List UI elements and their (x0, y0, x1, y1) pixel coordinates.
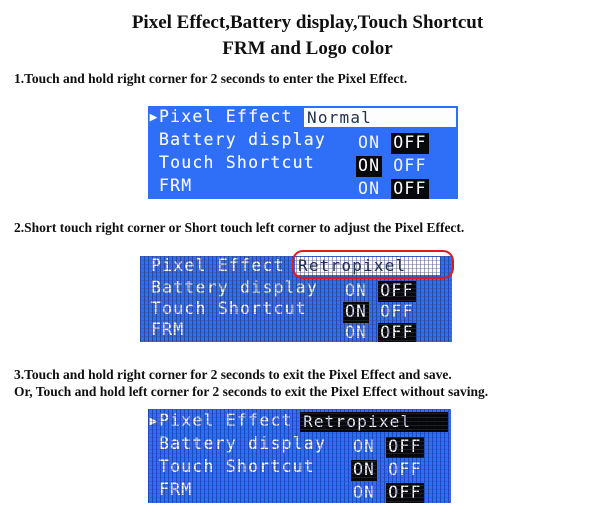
lcd-row-label: Pixel Effect (159, 109, 293, 126)
lcd-row-label: Touch Shortcut (151, 301, 307, 318)
toggle-option-off[interactable]: OFF (386, 460, 423, 481)
step-1-instruction: 1.Touch and hold right corner for 2 seco… (14, 71, 407, 87)
frm-toggle[interactable]: ON OFF (351, 483, 424, 503)
lcd-panel-retropixel-saved[interactable]: ▶ Pixel Effect Retropixel ▶ Battery disp… (148, 409, 451, 503)
page-title-line-2: FRM and Logo color (0, 38, 615, 60)
frm-toggle[interactable]: ON OFF (356, 179, 429, 199)
lcd-row-label: FRM (151, 322, 184, 339)
toggle-option-on[interactable]: ON (351, 437, 377, 458)
lcd-row-label: Pixel Effect (151, 258, 285, 275)
step-2-instruction: 2.Short touch right corner or Short touc… (14, 220, 464, 236)
toggle-option-on[interactable]: ON (351, 483, 377, 503)
toggle-option-on[interactable]: ON (356, 133, 382, 154)
lcd-row-label: FRM (159, 482, 192, 499)
pixel-effect-value-field[interactable]: Retropixel (300, 412, 448, 432)
battery-display-toggle[interactable]: ON OFF (351, 437, 424, 458)
selection-caret-icon: ▶ (148, 415, 159, 428)
toggle-option-off[interactable]: OFF (391, 133, 428, 154)
frm-toggle[interactable]: ON OFF (343, 323, 416, 342)
pixel-effect-value-field[interactable]: Normal (304, 108, 456, 127)
toggle-option-off[interactable]: OFF (386, 483, 423, 503)
lcd-row-label: FRM (159, 178, 192, 195)
lcd-row-label: Touch Shortcut (159, 459, 315, 476)
lcd-panel-retropixel-adjust[interactable]: ▶ Pixel Effect Retropixel ▶ Battery disp… (140, 256, 452, 342)
touch-shortcut-toggle[interactable]: ON OFF (356, 156, 429, 177)
lcd-row-label: Battery display (159, 132, 326, 149)
touch-shortcut-toggle[interactable]: ON OFF (351, 460, 424, 481)
toggle-option-on[interactable]: ON (356, 179, 382, 199)
toggle-option-off[interactable]: OFF (391, 179, 428, 199)
toggle-option-on[interactable]: ON (343, 323, 369, 342)
lcd-panel-normal[interactable]: ▶ Pixel Effect Normal ▶ Battery display … (148, 106, 458, 199)
lcd-row-label: Battery display (159, 436, 326, 453)
toggle-option-on[interactable]: ON (351, 460, 377, 481)
page-title-line-1: Pixel Effect,Battery display,Touch Short… (0, 12, 615, 34)
toggle-option-on[interactable]: ON (356, 156, 382, 177)
lcd-row-label: Battery display (151, 280, 318, 297)
battery-display-toggle[interactable]: ON OFF (356, 133, 429, 154)
selection-caret-icon: ▶ (148, 111, 159, 124)
toggle-option-off[interactable]: OFF (391, 156, 428, 177)
pixel-effect-value-field[interactable]: Retropixel (295, 257, 440, 275)
lcd-row-label: Pixel Effect (159, 413, 293, 430)
toggle-option-off[interactable]: OFF (386, 437, 423, 458)
step-3-instruction-line-1: 3.Touch and hold right corner for 2 seco… (14, 367, 452, 383)
lcd-row-label: Touch Shortcut (159, 155, 315, 172)
toggle-option-off[interactable]: OFF (378, 323, 415, 342)
step-3-instruction-line-2: Or, Touch and hold left corner for 2 sec… (14, 384, 488, 400)
